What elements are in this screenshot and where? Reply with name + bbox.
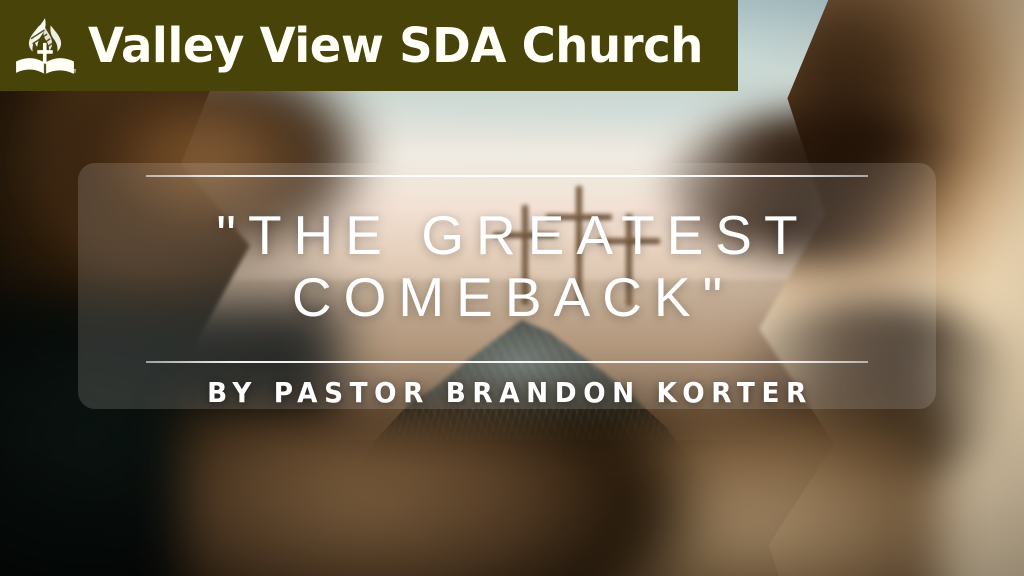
sermon-title-line-2: COMEBACK" [280, 266, 734, 328]
church-name-label: Valley View SDA Church [88, 22, 703, 70]
sermon-title-card: ® Valley View SDA Church "THE GREATEST C… [0, 0, 1024, 576]
sermon-title-panel: "THE GREATEST COMEBACK" BY PASTOR BRANDO… [78, 163, 936, 409]
sermon-title: "THE GREATEST COMEBACK" [78, 177, 936, 357]
sda-flame-bible-logo-icon: ® [14, 16, 76, 76]
church-header-bar: ® Valley View SDA Church [0, 0, 738, 91]
svg-text:®: ® [72, 67, 76, 74]
divider-line-bottom [146, 361, 868, 363]
speaker-credit-label: BY PASTOR BRANDON KORTER [201, 376, 813, 409]
sermon-title-line-1: "THE GREATEST [204, 204, 809, 266]
